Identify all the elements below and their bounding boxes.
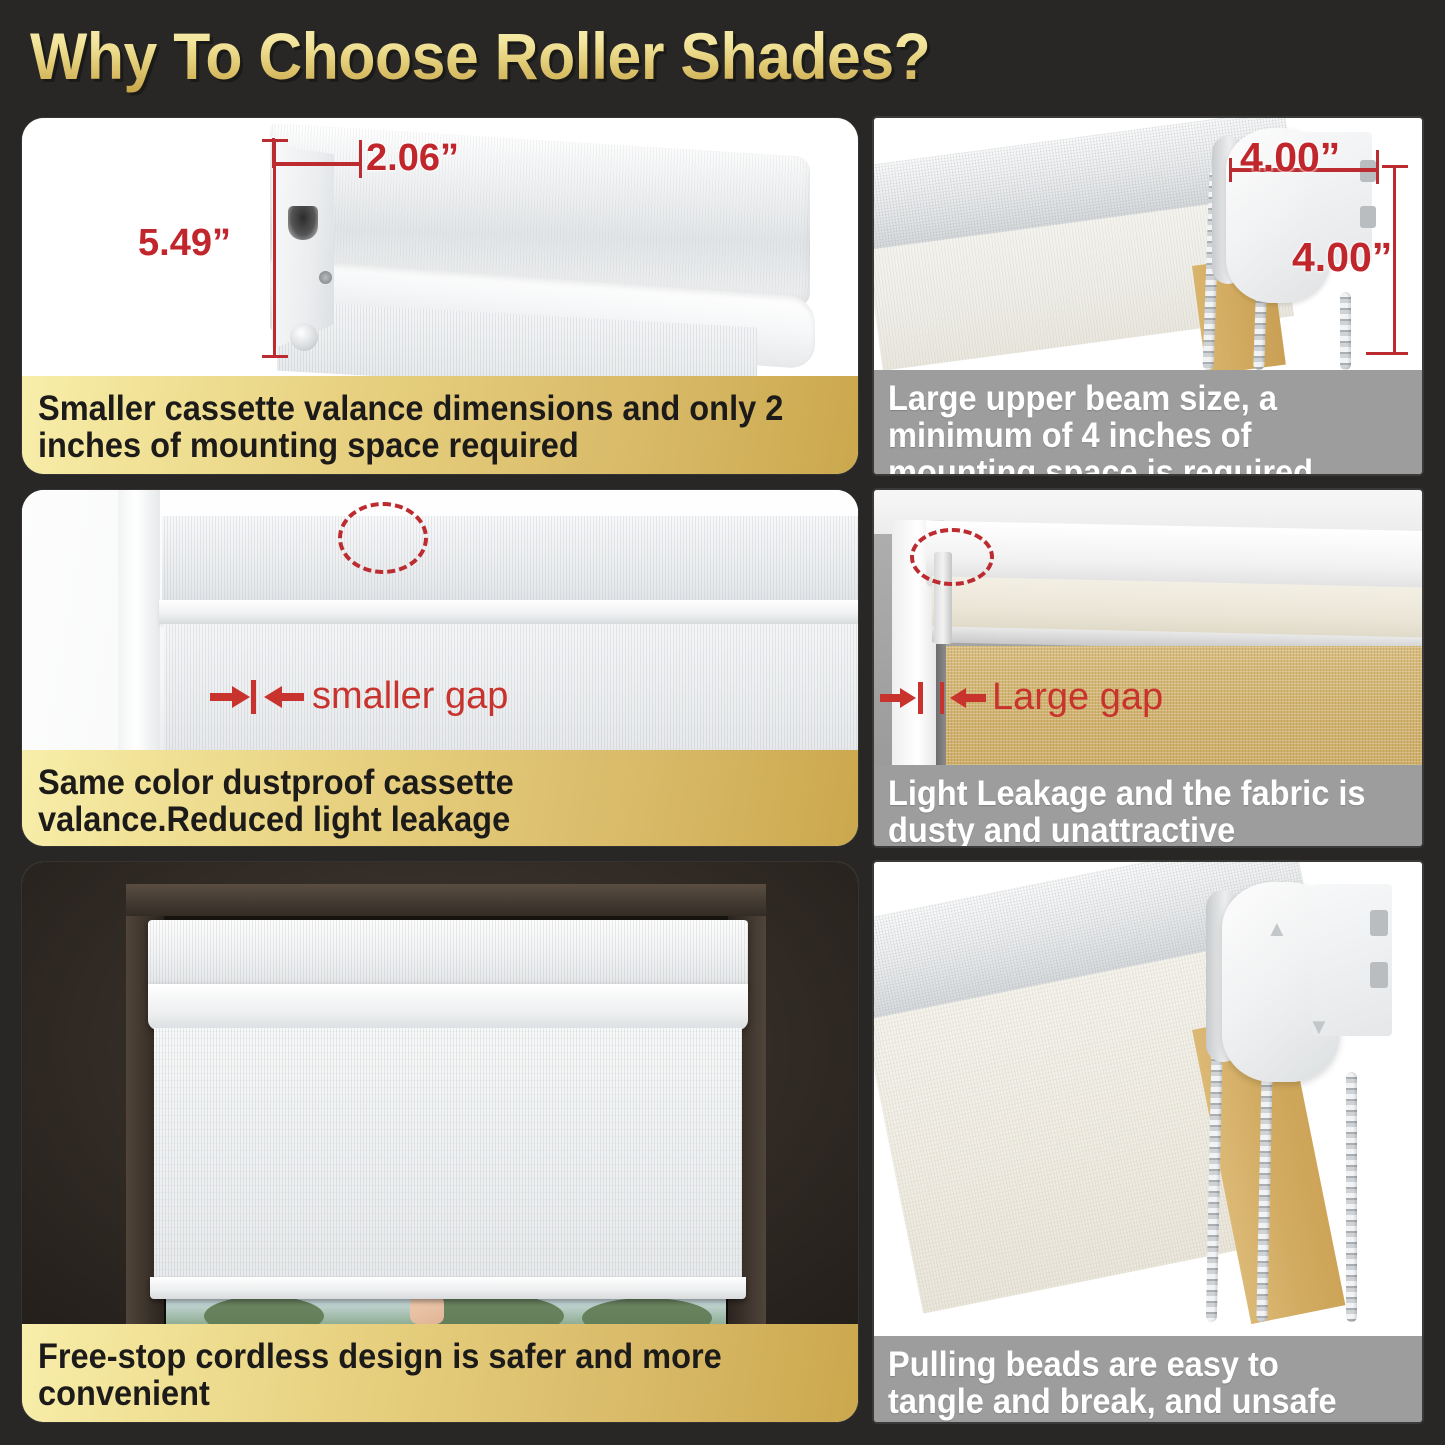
panel-4-caption-text: Light Leakage and the fabric is dusty an… xyxy=(888,775,1373,846)
panel-smaller-cassette: 2.06” 5.49” Smaller cassette valance dim… xyxy=(22,118,858,474)
p2-width-tick-right xyxy=(1376,150,1379,184)
window-jamb xyxy=(118,490,160,767)
gap-marker xyxy=(251,680,256,714)
gap-arrow-right xyxy=(264,686,304,708)
panel-3-photo: smaller gap xyxy=(22,490,858,767)
shade-upper-fabric xyxy=(162,516,858,602)
width-dim-tick-right xyxy=(359,140,362,178)
width-dim-line xyxy=(274,162,362,166)
panel-light-leakage: Large gap Light Leakage and the fabric i… xyxy=(874,490,1422,846)
panel-6-photo: ▲ ▼ xyxy=(874,862,1422,1327)
title-bar: Why To Choose Roller Shades? Why To Choo… xyxy=(0,0,1445,112)
panel-6-caption-bar: Pulling beads are easy to tangle and bre… xyxy=(874,1336,1422,1422)
panel-1-caption-bar: Smaller cassette valance dimensions and … xyxy=(22,376,858,474)
p2-height-dim-line xyxy=(1393,166,1396,354)
shade-fabric xyxy=(154,1028,742,1290)
panel-cordless-design: Free-stop cordless design is safer and m… xyxy=(22,862,858,1422)
panel-1-photo: 2.06” 5.49” xyxy=(22,118,858,376)
down-arrow-icon: ▼ xyxy=(1308,1014,1330,1040)
bead-chain-3 xyxy=(1346,1072,1357,1322)
gap-arrow-right xyxy=(950,688,986,708)
gap-marker-1 xyxy=(918,682,923,714)
gap-callout-label: smaller gap xyxy=(312,675,508,718)
panel-6-caption-text: Pulling beads are easy to tangle and bre… xyxy=(888,1346,1373,1420)
height-dim-tick-bottom xyxy=(262,355,288,358)
valance-bracket xyxy=(272,144,334,349)
highlight-circle xyxy=(910,528,994,586)
panel-5-caption-bar: Free-stop cordless design is safer and m… xyxy=(22,1324,858,1422)
gap-marker-2 xyxy=(940,682,944,714)
height-dim-tick-top xyxy=(262,139,288,142)
window-header xyxy=(126,884,766,916)
shade-hem-bar xyxy=(150,1277,746,1299)
panel-4-photo: Large gap xyxy=(874,490,1422,765)
panel-2-photo: 4.00” 4.00” xyxy=(874,118,1422,370)
bracket-slot-2 xyxy=(1370,962,1388,988)
height-dimension-label: 5.49” xyxy=(138,222,231,265)
panel-large-upper-beam: 4.00” 4.00” Large upper beam size, a min… xyxy=(874,118,1422,474)
p2-height-tick-top xyxy=(1382,165,1408,168)
page-title: Why To Choose Roller Shades? xyxy=(30,18,930,94)
panel-2-caption-text: Large upper beam size, a minimum of 4 in… xyxy=(888,380,1373,474)
height-dim-line xyxy=(273,140,276,358)
panel-5-photo xyxy=(22,862,858,1324)
shade-mid-rail xyxy=(159,600,858,624)
panel-2-caption-bar: Large upper beam size, a minimum of 4 in… xyxy=(874,370,1422,474)
panel-3-caption-text: Same color dustproof cassette valance.Re… xyxy=(38,764,786,838)
cassette-valance-lip xyxy=(148,984,748,1030)
gap-callout-label: Large gap xyxy=(992,676,1163,719)
panel-4-caption-bar: Light Leakage and the fabric is dusty an… xyxy=(874,765,1422,846)
p2-width-tick-left xyxy=(1229,158,1232,182)
p2-height-tick-bottom xyxy=(1366,352,1408,355)
panel-5-caption-text: Free-stop cordless design is safer and m… xyxy=(38,1338,786,1412)
highlight-circle xyxy=(338,502,428,574)
valance-knob xyxy=(290,323,318,351)
gap-arrow-left xyxy=(210,686,250,708)
panel-3-caption-bar: Same color dustproof cassette valance.Re… xyxy=(22,750,858,846)
p2-width-dimension-label: 4.00” xyxy=(1240,134,1340,181)
p2-height-dimension-label: 4.00” xyxy=(1292,234,1392,281)
width-dimension-label: 2.06” xyxy=(366,137,459,180)
panel-1-caption-text: Smaller cassette valance dimensions and … xyxy=(38,390,786,464)
gap-arrow-left xyxy=(880,688,916,708)
valance-screw xyxy=(319,271,332,284)
panel-dustproof-cassette: smaller gap Same color dustproof cassett… xyxy=(22,490,858,846)
bracket-slot-2 xyxy=(1360,206,1376,228)
up-arrow-icon: ▲ xyxy=(1266,916,1288,942)
bracket-slot-1 xyxy=(1370,910,1388,936)
cassette-valance-top xyxy=(148,920,748,988)
panel-pulling-beads: ▲ ▼ Pulling beads are easy to tangle and… xyxy=(874,862,1422,1422)
bead-chain-3 xyxy=(1340,292,1351,370)
valance-slot xyxy=(288,206,318,240)
